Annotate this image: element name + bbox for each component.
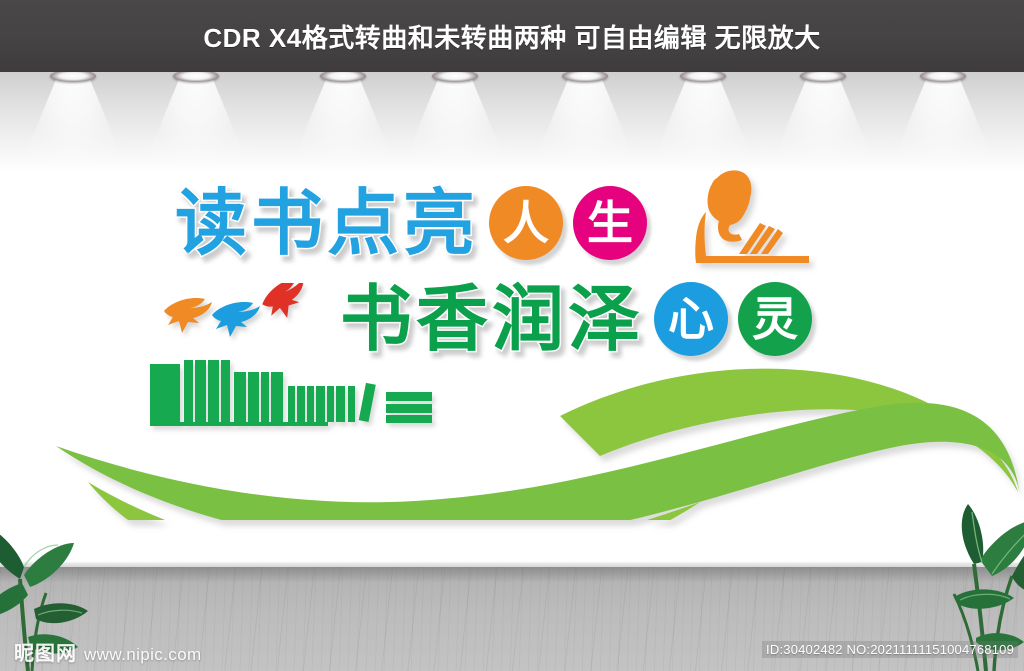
headline-line-1: 读书点亮 人 生 xyxy=(175,186,647,260)
light-beam xyxy=(520,76,650,172)
badge-sheng: 生 xyxy=(573,186,647,260)
person-reading-silhouette-icon xyxy=(684,168,809,273)
light-beam xyxy=(758,76,888,172)
floor-shadow xyxy=(0,567,1024,583)
headline-line-2-text: 书香润泽 xyxy=(340,283,644,355)
light-beam xyxy=(878,76,1008,172)
bird-orange-icon xyxy=(164,298,212,333)
ceiling-spotlight xyxy=(920,72,966,82)
light-beam xyxy=(638,76,768,172)
screenshot-canvas: CDR X4格式转曲和未转曲两种 可自由编辑 无限放大 xyxy=(0,0,1024,671)
ceiling-spotlight xyxy=(50,72,96,82)
ceiling-spotlight xyxy=(800,72,846,82)
badge-xin: 心 xyxy=(654,282,728,356)
top-banner: CDR X4格式转曲和未转曲两种 可自由编辑 无限放大 xyxy=(0,0,1024,72)
nipic-watermark: 昵图网 www.nipic.com xyxy=(14,637,202,666)
ceiling-spotlight xyxy=(432,72,478,82)
ceiling-spotlight xyxy=(173,72,219,82)
asset-id-watermark: ID:30402482 NO:20211111151004768109 xyxy=(762,641,1018,658)
badge-ling: 灵 xyxy=(738,282,812,356)
banner-text: CDR X4格式转曲和未转曲两种 可自由编辑 无限放大 xyxy=(203,18,820,55)
ceiling-spotlight xyxy=(562,72,608,82)
ceiling-strip xyxy=(0,72,1024,172)
green-books-row xyxy=(148,358,458,428)
ceiling-spotlight xyxy=(320,72,366,82)
flying-birds-group xyxy=(158,283,313,349)
nipic-logo-text: 昵图网 xyxy=(14,637,77,666)
light-beam xyxy=(278,76,408,172)
ceiling-spotlight xyxy=(680,72,726,82)
bird-red-icon xyxy=(257,283,313,325)
headline-line-2: 书香润泽 心 灵 xyxy=(340,282,812,356)
headline-line-1-text: 读书点亮 xyxy=(175,187,479,259)
light-beam xyxy=(8,76,138,172)
light-beam xyxy=(390,76,520,172)
bird-blue-icon xyxy=(212,302,260,337)
baseboard xyxy=(0,558,1024,567)
light-beam xyxy=(131,76,261,172)
nipic-url-text: www.nipic.com xyxy=(84,645,202,665)
badge-ren: 人 xyxy=(489,186,563,260)
